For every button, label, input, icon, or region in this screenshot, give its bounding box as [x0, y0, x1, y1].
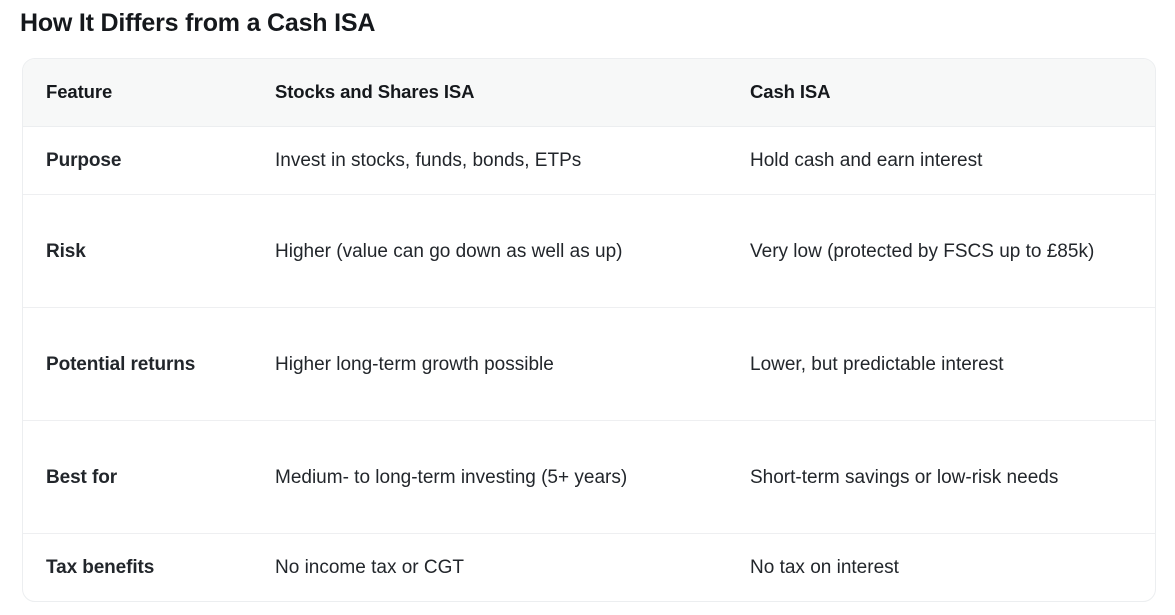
row-feature-risk: Risk [23, 195, 253, 308]
row-feature-purpose: Purpose [23, 127, 253, 195]
table-row: Best for Medium- to long-term investing … [23, 421, 1155, 534]
cell-potential-returns-stocks-and-shares-isa: Higher long-term growth possible [253, 308, 730, 421]
table-row: Risk Higher (value can go down as well a… [23, 195, 1155, 308]
comparison-table: Feature Stocks and Shares ISA Cash ISA P… [23, 59, 1155, 601]
cell-best-for-stocks-and-shares-isa: Medium- to long-term investing (5+ years… [253, 421, 730, 534]
row-feature-tax-benefits: Tax benefits [23, 534, 253, 602]
row-feature-potential-returns: Potential returns [23, 308, 253, 421]
page-title: How It Differs from a Cash ISA [20, 6, 375, 40]
table-header: Feature Stocks and Shares ISA Cash ISA [23, 59, 1155, 127]
comparison-page: How It Differs from a Cash ISA Feature S… [0, 0, 1175, 615]
cell-tax-benefits-stocks-and-shares-isa: No income tax or CGT [253, 534, 730, 602]
cell-risk-stocks-and-shares-isa: Higher (value can go down as well as up) [253, 195, 730, 308]
column-header-stocks-and-shares-isa: Stocks and Shares ISA [253, 59, 730, 127]
cell-best-for-cash-isa: Short-term savings or low-risk needs [730, 421, 1155, 534]
table-row: Tax benefits No income tax or CGT No tax… [23, 534, 1155, 602]
table-body: Purpose Invest in stocks, funds, bonds, … [23, 127, 1155, 602]
comparison-table-card: Feature Stocks and Shares ISA Cash ISA P… [22, 58, 1156, 602]
table-header-row: Feature Stocks and Shares ISA Cash ISA [23, 59, 1155, 127]
cell-purpose-stocks-and-shares-isa: Invest in stocks, funds, bonds, ETPs [253, 127, 730, 195]
column-header-feature: Feature [23, 59, 253, 127]
cell-risk-cash-isa: Very low (protected by FSCS up to £85k) [730, 195, 1155, 308]
cell-potential-returns-cash-isa: Lower, but predictable interest [730, 308, 1155, 421]
cell-purpose-cash-isa: Hold cash and earn interest [730, 127, 1155, 195]
table-row: Purpose Invest in stocks, funds, bonds, … [23, 127, 1155, 195]
column-header-cash-isa: Cash ISA [730, 59, 1155, 127]
table-row: Potential returns Higher long-term growt… [23, 308, 1155, 421]
cell-tax-benefits-cash-isa: No tax on interest [730, 534, 1155, 602]
row-feature-best-for: Best for [23, 421, 253, 534]
